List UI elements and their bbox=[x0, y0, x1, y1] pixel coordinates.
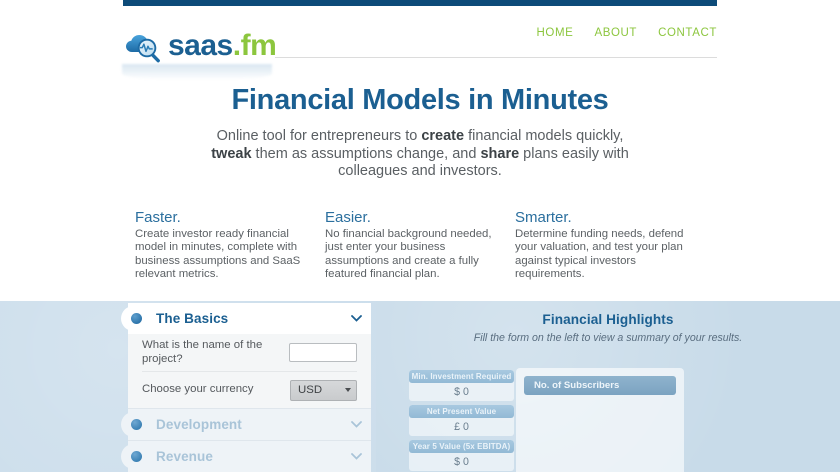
hero-sub-bold-tweak: tweak bbox=[211, 146, 251, 162]
chevron-down-icon bbox=[345, 388, 351, 392]
feature-body: No financial background needed, just ent… bbox=[325, 228, 503, 282]
currency-select-value: USD bbox=[298, 384, 322, 396]
nav-item-contact[interactable]: CONTACT bbox=[658, 27, 717, 39]
logo[interactable]: saas.fm bbox=[122, 26, 276, 76]
feature-heading: Faster. bbox=[135, 208, 313, 227]
form-row-project-name: What is the name of the project? bbox=[142, 334, 357, 372]
field-label: What is the name of the project? bbox=[142, 339, 267, 366]
accordion-header-development[interactable]: Development bbox=[128, 409, 371, 440]
feature-smarter: Smarter. Determine funding needs, defend… bbox=[515, 208, 705, 282]
financial-highlights-panel: Financial Highlights Fill the form on th… bbox=[376, 301, 840, 472]
hero-sub-3: them as assumptions change, and bbox=[252, 146, 481, 162]
site-header: saas.fm HOME ABOUT CONTACT bbox=[0, 6, 840, 68]
metric-label: Min. Investment Required bbox=[409, 370, 514, 383]
accordion-header-the-basics[interactable]: The Basics bbox=[128, 303, 371, 334]
hero-sub-2: financial models quickly, bbox=[464, 128, 623, 144]
accordion-section-revenue: Revenue bbox=[128, 441, 371, 472]
section-status-dot-tab bbox=[121, 306, 151, 331]
hero-sub-bold-create: create bbox=[421, 128, 464, 144]
bullet-dot-icon bbox=[131, 313, 142, 324]
metric-label: Net Present Value bbox=[409, 405, 514, 418]
bullet-dot-icon bbox=[131, 451, 142, 462]
field-label: Choose your currency bbox=[142, 383, 267, 397]
accordion-title: Revenue bbox=[156, 449, 213, 464]
accordion-title: The Basics bbox=[156, 311, 228, 326]
highlights-title: Financial Highlights bbox=[376, 301, 840, 327]
feature-easier: Easier. No financial background needed, … bbox=[325, 208, 515, 282]
highlights-subtitle: Fill the form on the left to view a summ… bbox=[470, 332, 746, 345]
metric-card-year5-value: Year 5 Value (5x EBITDA) $ 0 bbox=[409, 440, 514, 471]
currency-select[interactable]: USD bbox=[290, 380, 357, 401]
chevron-down-icon[interactable] bbox=[351, 421, 362, 428]
chevron-down-icon[interactable] bbox=[351, 453, 362, 460]
hero-sub-1: Online tool for entrepreneurs to bbox=[217, 128, 422, 144]
accordion-title: Development bbox=[156, 417, 242, 432]
accordion-section-development: Development bbox=[128, 409, 371, 440]
logo-wordmark: saas.fm bbox=[168, 29, 276, 63]
accordion-section-the-basics: The Basics What is the name of the proje… bbox=[128, 303, 371, 408]
metric-card-list: Min. Investment Required $ 0 Net Present… bbox=[409, 370, 514, 475]
feature-heading: Easier. bbox=[325, 208, 503, 227]
section-status-dot-tab bbox=[121, 444, 151, 469]
page-title: Financial Models in Minutes bbox=[0, 82, 840, 118]
feature-faster: Faster. Create investor ready financial … bbox=[135, 208, 325, 282]
project-name-input[interactable] bbox=[289, 343, 357, 362]
chart-plot-area bbox=[516, 395, 684, 465]
feature-columns: Faster. Create investor ready financial … bbox=[0, 208, 840, 282]
nav-item-about[interactable]: ABOUT bbox=[594, 27, 637, 39]
metric-label: Year 5 Value (5x EBITDA) bbox=[409, 440, 514, 453]
hero-subtitle: Online tool for entrepreneurs to create … bbox=[210, 128, 630, 181]
feature-heading: Smarter. bbox=[515, 208, 693, 227]
subscribers-chart-panel: No. of Subscribers bbox=[516, 368, 684, 472]
logo-text-suffix: .fm bbox=[233, 29, 277, 62]
main-nav: HOME ABOUT CONTACT bbox=[537, 27, 717, 39]
page-root: saas.fm HOME ABOUT CONTACT Financial Mod… bbox=[0, 0, 840, 472]
cloud-magnifier-icon bbox=[122, 26, 166, 70]
section-status-dot-tab bbox=[121, 412, 151, 437]
metric-value: $ 0 bbox=[409, 383, 514, 398]
hero-section: Financial Models in Minutes Online tool … bbox=[0, 82, 840, 181]
logo-text-primary: saas bbox=[168, 29, 233, 62]
hero-sub-bold-share: share bbox=[480, 146, 519, 162]
feature-body: Determine funding needs, defend your val… bbox=[515, 228, 693, 282]
chart-empty-canvas bbox=[516, 395, 684, 465]
bullet-dot-icon bbox=[131, 419, 142, 430]
accordion-header-revenue[interactable]: Revenue bbox=[128, 441, 371, 472]
chevron-down-icon[interactable] bbox=[351, 315, 362, 322]
header-divider bbox=[275, 57, 717, 58]
metric-card-min-investment: Min. Investment Required $ 0 bbox=[409, 370, 514, 401]
nav-item-home[interactable]: HOME bbox=[537, 27, 574, 39]
assumptions-accordion: The Basics What is the name of the proje… bbox=[128, 303, 371, 472]
chart-title: No. of Subscribers bbox=[524, 376, 676, 395]
form-row-currency: Choose your currency USD bbox=[142, 372, 357, 408]
metric-value: $ 0 bbox=[409, 453, 514, 468]
metric-value: £ 0 bbox=[409, 418, 514, 433]
metric-card-npv: Net Present Value £ 0 bbox=[409, 405, 514, 436]
accordion-body-the-basics: What is the name of the project? Choose … bbox=[128, 334, 371, 408]
feature-body: Create investor ready financial model in… bbox=[135, 228, 313, 282]
